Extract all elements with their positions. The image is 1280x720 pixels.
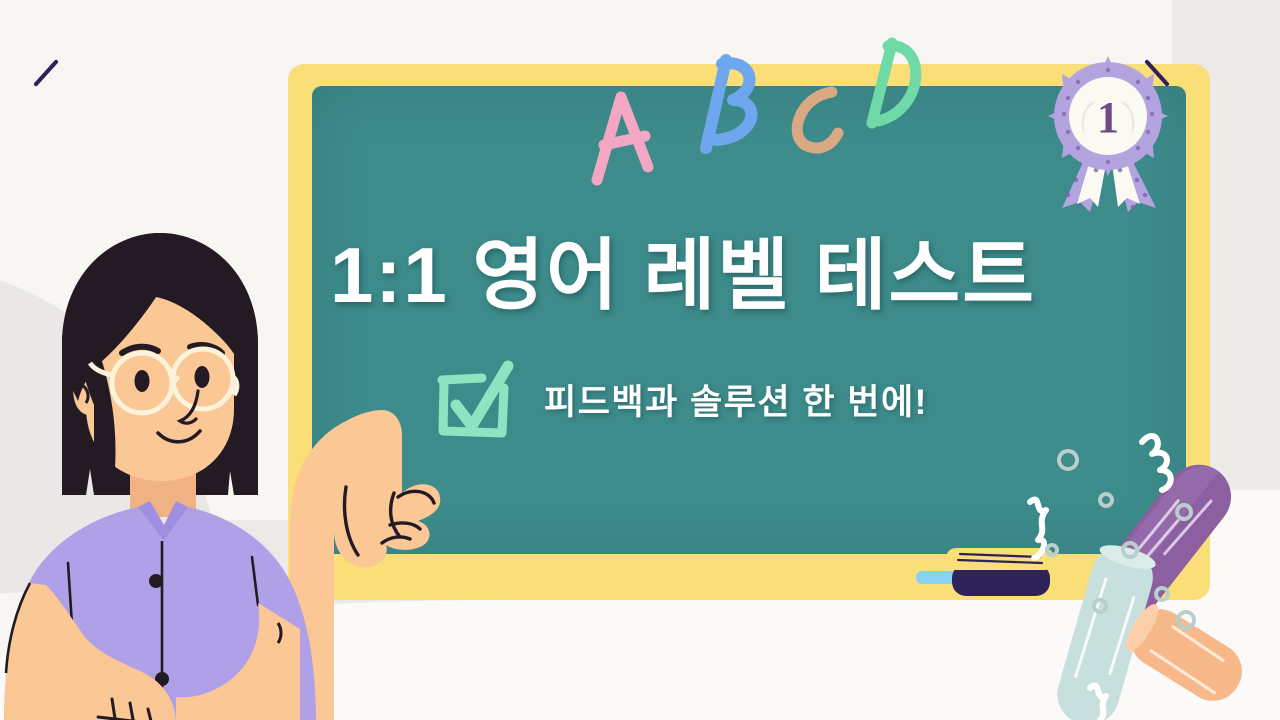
subtitle-block: 피드백과 솔루션 한 번에! — [430, 358, 928, 440]
eye-right — [195, 366, 210, 388]
desk-objects-group — [930, 420, 1280, 720]
teacher-illustration — [0, 225, 470, 720]
chalk-yellow-small-icon — [830, 568, 888, 584]
page-subtitle: 피드백과 솔루션 한 번에! — [544, 374, 928, 425]
award-ribbon-icon: 1 — [1032, 52, 1184, 212]
shirt-button-top — [149, 574, 163, 588]
board-corner-accent-top-left — [33, 59, 59, 87]
eye-left — [135, 370, 150, 392]
ribbon-rank-label: 1 — [1097, 93, 1119, 142]
banner-canvas: 1:1 영어 레벨 테스트 피드백과 솔루션 한 번에! — [0, 0, 1280, 720]
